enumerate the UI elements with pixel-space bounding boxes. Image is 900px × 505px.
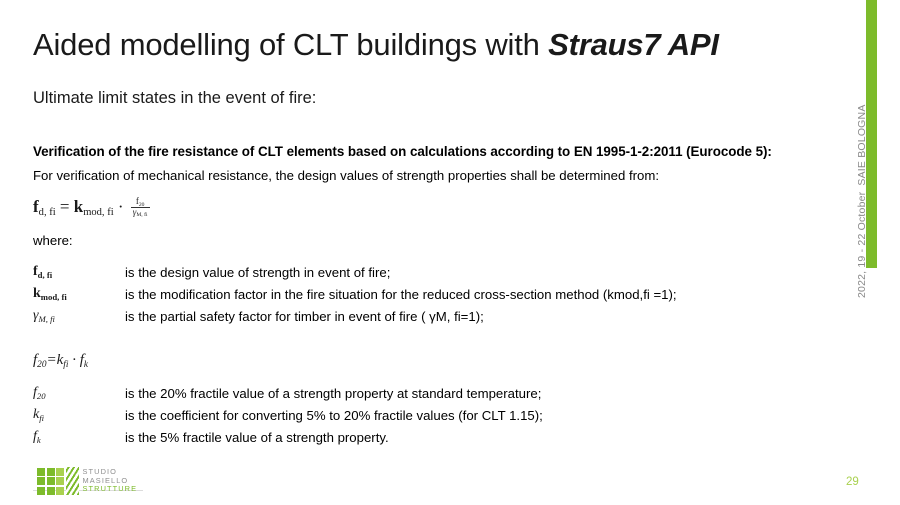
eq2-rhs1-sub: fi <box>63 360 68 370</box>
logo-square <box>37 468 45 476</box>
definition-symbol-sub: d, fi <box>38 270 52 280</box>
definition-symbol: kmod, fi <box>33 286 125 302</box>
definition-symbol-base: k <box>33 286 41 301</box>
logo-square <box>47 468 55 476</box>
eq1-denominator: γM, fi <box>131 207 150 218</box>
logo-line-strutture: STRUTTURE <box>83 485 138 494</box>
logo-square <box>56 468 64 476</box>
definition-symbol-base: γ <box>33 308 39 323</box>
page-number: 29 <box>846 476 859 488</box>
definition-symbol-sub: fi <box>39 413 44 423</box>
definition-text: is the 5% fractile value of a strength p… <box>125 430 389 445</box>
where-label: where: <box>33 233 73 248</box>
logo-square <box>37 487 45 495</box>
eq2-rhs2-sub: k <box>84 360 88 370</box>
logo-hatch-icon <box>66 467 79 495</box>
logo-square <box>56 487 64 495</box>
definition-text: is the coefficient for converting 5% to … <box>125 408 543 423</box>
eq2-equals: = <box>46 352 56 368</box>
definition-symbol-sub: 20 <box>37 391 46 401</box>
eq2-lhs-sub: 20 <box>37 360 46 370</box>
definition-symbol-sub: mod, fi <box>41 292 67 302</box>
section-heading: Verification of the fire resistance of C… <box>33 144 772 159</box>
eq1-fraction: f20 γM, fi <box>131 197 150 217</box>
definition-symbol: fk <box>33 429 125 445</box>
logo-square <box>47 477 55 485</box>
definition-symbol: γM, fi <box>33 308 125 324</box>
company-logo: STUDIO MASIELLO STRUTTURE <box>37 465 137 497</box>
logo-square <box>56 477 64 485</box>
presentation-slide: 2022, 19 - 22 OctoberSAIE BOLOGNA Aided … <box>0 0 900 505</box>
eq1-factor-sub: mod, fi <box>83 207 113 218</box>
definition-text: is the 20% fractile value of a strength … <box>125 386 541 401</box>
logo-square <box>37 477 45 485</box>
slide-title-main: Aided modelling of CLT buildings with <box>33 27 548 62</box>
definition-text: is the design value of strength in event… <box>125 265 390 280</box>
eq1-factor-base: k <box>74 197 83 216</box>
definition-symbol: f20 <box>33 385 125 401</box>
eq1-num-sub: 20 <box>139 202 145 208</box>
eq1-equals: = <box>60 197 70 216</box>
slide-title-emphasis: Straus7 API <box>548 27 719 62</box>
eq1-numerator: f20 <box>131 197 150 207</box>
side-event-label: 2022, 19 - 22 OctoberSAIE BOLOGNA <box>852 118 872 298</box>
logo-grid-icon <box>37 468 64 495</box>
slide-subtitle: Ultimate limit states in the event of fi… <box>33 89 316 108</box>
definition-text: is the partial safety factor for timber … <box>125 309 484 324</box>
definition-symbol: fd, fi <box>33 264 125 280</box>
eq1-lhs-base: f <box>33 197 39 216</box>
logo-square <box>47 487 55 495</box>
section-intro-text: For verification of mechanical resistanc… <box>33 168 659 183</box>
definition-symbol: kfi <box>33 407 125 423</box>
slide-title: Aided modelling of CLT buildings with St… <box>33 26 719 64</box>
equation-design-strength: fd, fi = kmod, fi · f20 γM, fi <box>33 197 150 218</box>
equation-fractile-conversion: f20=kfi · fk <box>33 352 88 369</box>
eq1-den-sub: M, fi <box>136 212 147 218</box>
side-date-text: 2022, 19 - 22 October <box>856 192 868 298</box>
eq1-dot: · <box>118 197 124 216</box>
definition-symbol-base: f <box>33 264 38 279</box>
side-event-text: SAIE BOLOGNA <box>856 104 868 185</box>
definition-text: is the modification factor in the fire s… <box>125 287 677 302</box>
definition-symbol-sub: k <box>37 435 41 445</box>
logo-wordmark: STUDIO MASIELLO STRUTTURE <box>83 468 138 494</box>
eq2-dot: · <box>72 352 76 368</box>
eq1-lhs-sub: d, fi <box>39 207 56 218</box>
definition-symbol-sub: M, fi <box>39 314 55 324</box>
